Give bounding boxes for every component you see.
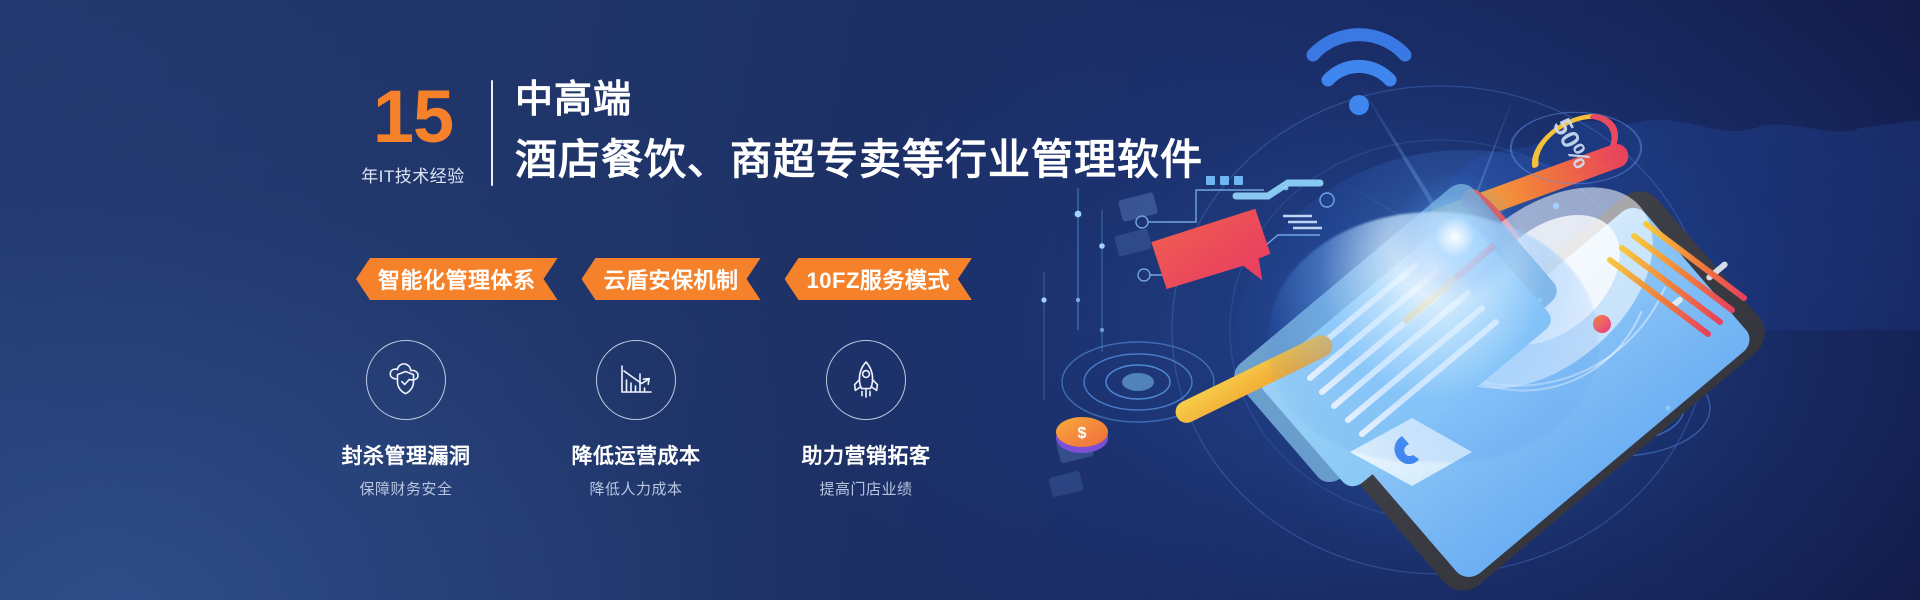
feature-icon-circle: [826, 340, 906, 420]
promo-banner: 15 年IT技术经验 中高端 酒店餐饮、商超专卖等行业管理软件 智能化管理体系 …: [0, 0, 1920, 600]
svg-text:$: $: [1078, 425, 1087, 442]
years-number: 15: [373, 82, 453, 152]
feature-title: 助力营销拓客: [802, 440, 931, 470]
cloud-shield-icon: [384, 360, 428, 400]
particle-streaks: [1041, 188, 1104, 400]
hero-illustration: $ 50%: [1020, 0, 1920, 600]
red-chat-bubble: [1149, 208, 1272, 290]
declining-bar-chart-icon: [615, 361, 657, 399]
feature-item-cost: 降低运营成本 降低人力成本: [580, 340, 692, 499]
tag-list: 智能化管理体系 云盾安保机制 10FZ服务模式: [356, 258, 972, 300]
years-caption: 年IT技术经验: [361, 162, 465, 187]
light-source-core: [1390, 172, 1520, 302]
feature-item-security: 封杀管理漏洞 保障财务安全: [350, 340, 462, 499]
tag-item[interactable]: 智能化管理体系: [356, 258, 558, 300]
feature-subtitle: 保障财务安全: [359, 478, 452, 499]
feature-icon-circle: [366, 340, 446, 420]
feature-icon-circle: [596, 340, 676, 420]
headline-block: 15 年IT技术经验 中高端 酒店餐饮、商超专卖等行业管理软件 智能化管理体系 …: [0, 0, 1060, 600]
rocket-icon: [846, 359, 886, 401]
feature-item-marketing: 助力营销拓客 提高门店业绩: [810, 340, 922, 499]
feature-title: 封杀管理漏洞: [342, 440, 471, 470]
feature-list: 封杀管理漏洞 保障财务安全: [350, 340, 922, 499]
feature-subtitle: 提高门店业绩: [819, 478, 912, 499]
dollar-coin-icon: $: [1056, 417, 1108, 453]
experience-years: 15 年IT技术经验: [355, 78, 471, 187]
vertical-divider: [491, 80, 493, 186]
tag-item[interactable]: 10FZ服务模式: [785, 258, 972, 300]
tag-item[interactable]: 云盾安保机制: [582, 258, 761, 300]
wifi-signal-icon: [1313, 35, 1405, 115]
feature-title: 降低运营成本: [572, 440, 701, 470]
feature-subtitle: 降低人力成本: [589, 478, 682, 499]
